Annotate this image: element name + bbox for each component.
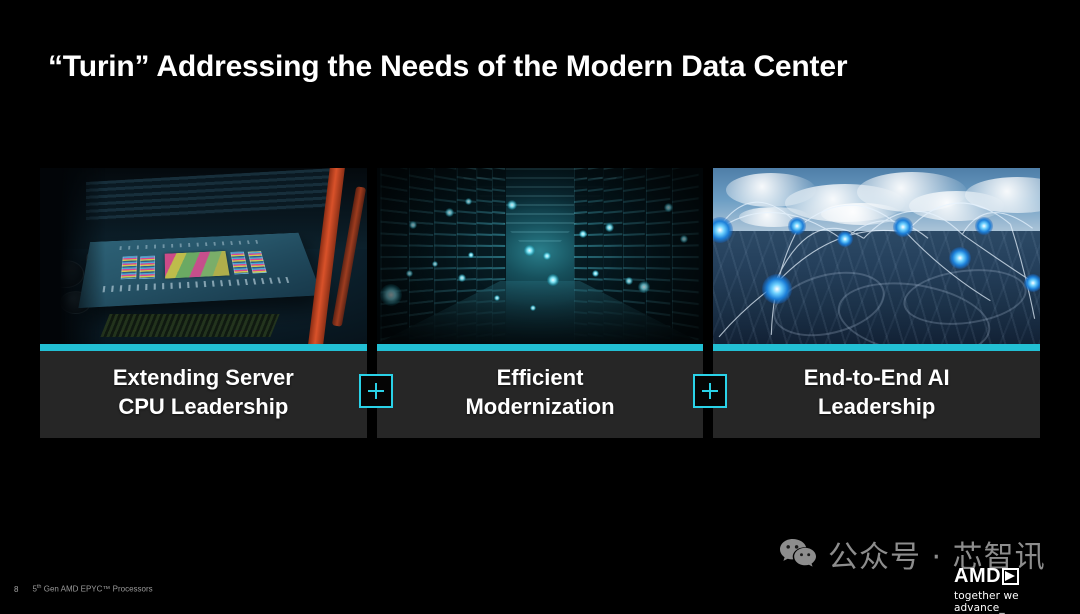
footer: 8 5th Gen AMD EPYC™ Processors [14, 584, 153, 594]
amd-logo-mark: AMD [954, 566, 1066, 587]
card-3-body: End-to-End AI Leadership [713, 351, 1040, 438]
card-1-accent-bar [40, 344, 367, 351]
card-end-to-end-ai-leadership[interactable]: End-to-End AI Leadership [713, 168, 1040, 438]
card-extending-server-cpu-leadership[interactable]: Extending Server CPU Leadership [40, 168, 367, 438]
amd-arrow-icon [1002, 568, 1019, 585]
card-2-image [377, 168, 704, 344]
card-1-body: Extending Server CPU Leadership [40, 351, 367, 438]
cards-row: Extending Server CPU Leadership [40, 168, 1040, 438]
footer-note-suffix: Gen AMD EPYC™ Processors [42, 585, 153, 594]
card-3-title: End-to-End AI Leadership [804, 364, 950, 421]
expand-card-1-button[interactable] [359, 374, 393, 408]
slide: “Turin” Addressing the Needs of the Mode… [0, 0, 1080, 608]
expand-card-2-button[interactable] [693, 374, 727, 408]
footer-note: 5th Gen AMD EPYC™ Processors [32, 584, 152, 594]
card-efficient-modernization[interactable]: Efficient Modernization [377, 168, 704, 438]
page-number: 8 [14, 585, 18, 594]
card-3-accent-bar [713, 344, 1040, 351]
amd-wordmark: AMD [954, 566, 1001, 586]
page-title: “Turin” Addressing the Needs of the Mode… [48, 50, 847, 84]
card-2-title: Efficient Modernization [465, 364, 614, 421]
card-1-image [40, 168, 367, 344]
card-2-body: Efficient Modernization [377, 351, 704, 438]
card-1-title: Extending Server CPU Leadership [113, 364, 294, 421]
card-2-title-line1: Efficient [497, 365, 584, 390]
amd-tagline: together we advance_ [954, 590, 1066, 614]
card-3-title-line2: Leadership [818, 394, 935, 419]
card-1-title-line1: Extending Server [113, 365, 294, 390]
wechat-icon [778, 537, 818, 571]
card-1-title-line2: CPU Leadership [118, 394, 288, 419]
card-2-accent-bar [377, 344, 704, 351]
card-3-image [713, 168, 1040, 344]
card-3-title-line1: End-to-End AI [804, 365, 950, 390]
card-2-title-line2: Modernization [465, 394, 614, 419]
amd-logo: AMD together we advance_ [954, 566, 1066, 614]
network-arcs [713, 168, 1040, 344]
